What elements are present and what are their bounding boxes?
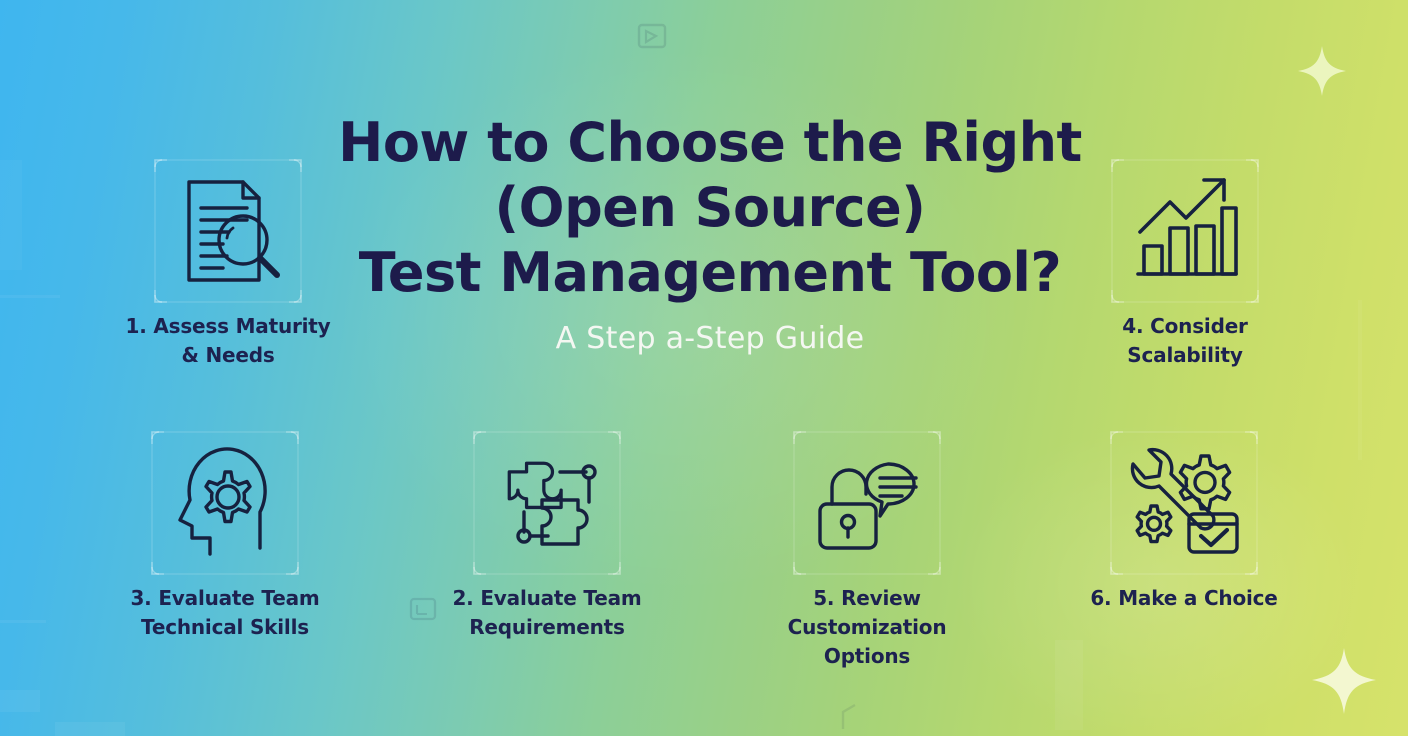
step-label-6: 6. Make a Choice: [1069, 584, 1299, 613]
page-subtitle: A Step a-Step Guide: [300, 321, 1120, 357]
step-label-2-line-2: Requirements: [432, 613, 662, 642]
step-label-6-line-1: 6. Make a Choice: [1069, 584, 1299, 613]
step-label-3: 3. Evaluate Team Technical Skills: [110, 584, 340, 642]
icon-frame-5: [792, 430, 942, 576]
step-card-2: 2. Evaluate Team Requirements: [432, 430, 662, 642]
step-label-5-line-2: Customization: [752, 613, 982, 642]
wrench-gears-checkmark-icon: [1123, 442, 1245, 564]
step-label-5-line-1: 5. Review: [752, 584, 982, 613]
page-title-line-3: Test Management Tool?: [300, 240, 1120, 305]
step-label-2-line-1: 2. Evaluate Team: [432, 584, 662, 613]
step-label-3-line-2: Technical Skills: [110, 613, 340, 642]
step-label-4: 4. Consider Scalability: [1070, 312, 1300, 370]
growth-bar-chart-arrow-icon: [1124, 170, 1246, 292]
step-label-4-line-1: 4. Consider: [1070, 312, 1300, 341]
icon-frame-1: [153, 158, 303, 304]
edge-artifact: [55, 722, 125, 736]
step-card-3: 3. Evaluate Team Technical Skills: [110, 430, 340, 642]
step-label-3-line-1: 3. Evaluate Team: [110, 584, 340, 613]
edge-artifact: [0, 160, 22, 270]
title-block: How to Choose the Right (Open Source) Te…: [300, 110, 1120, 357]
edge-artifact: [0, 620, 46, 623]
step-label-5: 5. Review Customization Options: [752, 584, 982, 671]
edge-artifact: [1055, 640, 1083, 730]
step-card-1: 1. Assess Maturity & Needs: [113, 158, 343, 370]
puzzle-pieces-network-icon: [486, 442, 608, 564]
icon-frame-4: [1110, 158, 1260, 304]
open-padlock-speech-bubble-icon: [806, 442, 928, 564]
step-card-5: 5. Review Customization Options: [752, 430, 982, 671]
icon-frame-3: [150, 430, 300, 576]
step-card-6: 6. Make a Choice: [1069, 430, 1299, 613]
page-title-line-1: How to Choose the Right: [300, 110, 1120, 175]
infographic-canvas: How to Choose the Right (Open Source) Te…: [0, 0, 1408, 736]
watermark-frame-top-icon: [636, 20, 668, 59]
edge-artifact: [0, 295, 60, 298]
icon-frame-2: [472, 430, 622, 576]
step-label-1: 1. Assess Maturity & Needs: [113, 312, 343, 370]
sparkle-top-right-icon: [1296, 44, 1348, 103]
page-title-line-2: (Open Source): [300, 175, 1120, 240]
watermark-arrow-icon: [838, 700, 872, 736]
step-label-5-line-3: Options: [752, 642, 982, 671]
edge-artifact: [1358, 300, 1362, 460]
step-label-4-line-2: Scalability: [1070, 341, 1300, 370]
head-gear-icon: [164, 442, 286, 564]
step-label-2: 2. Evaluate Team Requirements: [432, 584, 662, 642]
edge-artifact: [0, 690, 40, 712]
sparkle-bottom-right-icon: [1310, 646, 1378, 721]
icon-frame-6: [1109, 430, 1259, 576]
document-magnifier-icon: [167, 170, 289, 292]
step-label-1-line-1: 1. Assess Maturity: [113, 312, 343, 341]
step-label-1-line-2: & Needs: [113, 341, 343, 370]
step-card-4: 4. Consider Scalability: [1070, 158, 1300, 370]
